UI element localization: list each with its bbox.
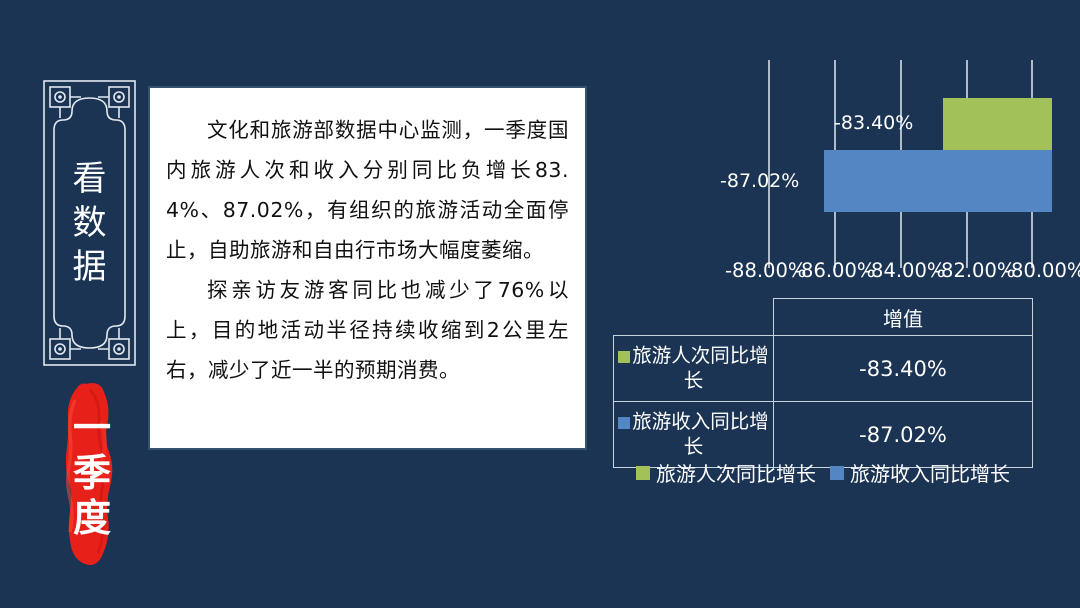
row-label-text: 旅游人次同比增长 xyxy=(632,344,769,392)
body-text-card: 文化和旅游部数据中心监测，一季度国内旅游人次和收入分别同比负增长83.4%、87… xyxy=(148,86,587,450)
legend-swatch-green-icon xyxy=(636,466,650,480)
bar-label-tourism-revenue: -87.02% xyxy=(720,172,799,191)
x-axis-tick-labels: -88.00% -86.00% -84.00% -82.00% -80.00% xyxy=(712,258,1064,284)
bar-chart: -83.40% -87.02% xyxy=(712,60,1052,268)
row-label-text: 旅游收入同比增长 xyxy=(632,410,769,458)
paragraph-1: 文化和旅游部数据中心监测，一季度国内旅游人次和收入分别同比负增长83.4%、87… xyxy=(166,110,569,270)
gridline-1 xyxy=(768,60,770,268)
swatch-blue-icon xyxy=(618,417,630,429)
swatch-green-icon xyxy=(618,351,630,363)
table-row-label-trips: 旅游人次同比增长 xyxy=(614,336,774,402)
legend-swatch-blue-icon xyxy=(830,466,844,480)
table-header-row: 增值 xyxy=(614,299,1033,336)
table-corner-cell xyxy=(614,299,774,336)
chart-legend: 旅游人次同比增长 旅游收入同比增长 xyxy=(613,458,1033,487)
data-table: 增值 旅游人次同比增长 -83.40% 旅游收入同比增长 -87.02% xyxy=(613,298,1033,468)
bar-label-tourist-trips: -83.40% xyxy=(834,114,913,133)
table-column-header: 增值 xyxy=(774,299,1033,336)
legend-label: 旅游收入同比增长 xyxy=(850,458,1010,487)
quarter-seal: 一 季 度 xyxy=(38,378,146,568)
table-value-trips: -83.40% xyxy=(774,336,1033,402)
legend-label: 旅游人次同比增长 xyxy=(656,458,816,487)
bar-tourism-revenue[interactable] xyxy=(824,150,1052,212)
slide-canvas: 看 数 据 一 季 度 文化和旅游部数据中心监测，一季度国内旅游人次和收入分别同… xyxy=(0,0,1080,608)
legend-item-tourism-revenue[interactable]: 旅游收入同比增长 xyxy=(830,458,1010,487)
paragraph-2: 探亲访友游客同比也减少了76%以上，目的地活动半径持续收缩到2公里左右，减少了近… xyxy=(166,270,569,390)
brush-stroke-icon xyxy=(38,378,146,568)
x-tick-5: -80.00% xyxy=(1004,258,1080,284)
ornamental-plaque: 看 数 据 xyxy=(41,78,138,368)
ornamental-frame-icon xyxy=(41,78,138,368)
legend-item-tourist-trips[interactable]: 旅游人次同比增长 xyxy=(636,458,816,487)
bar-tourist-trips[interactable] xyxy=(943,98,1052,150)
table-row: 旅游人次同比增长 -83.40% xyxy=(614,336,1033,402)
